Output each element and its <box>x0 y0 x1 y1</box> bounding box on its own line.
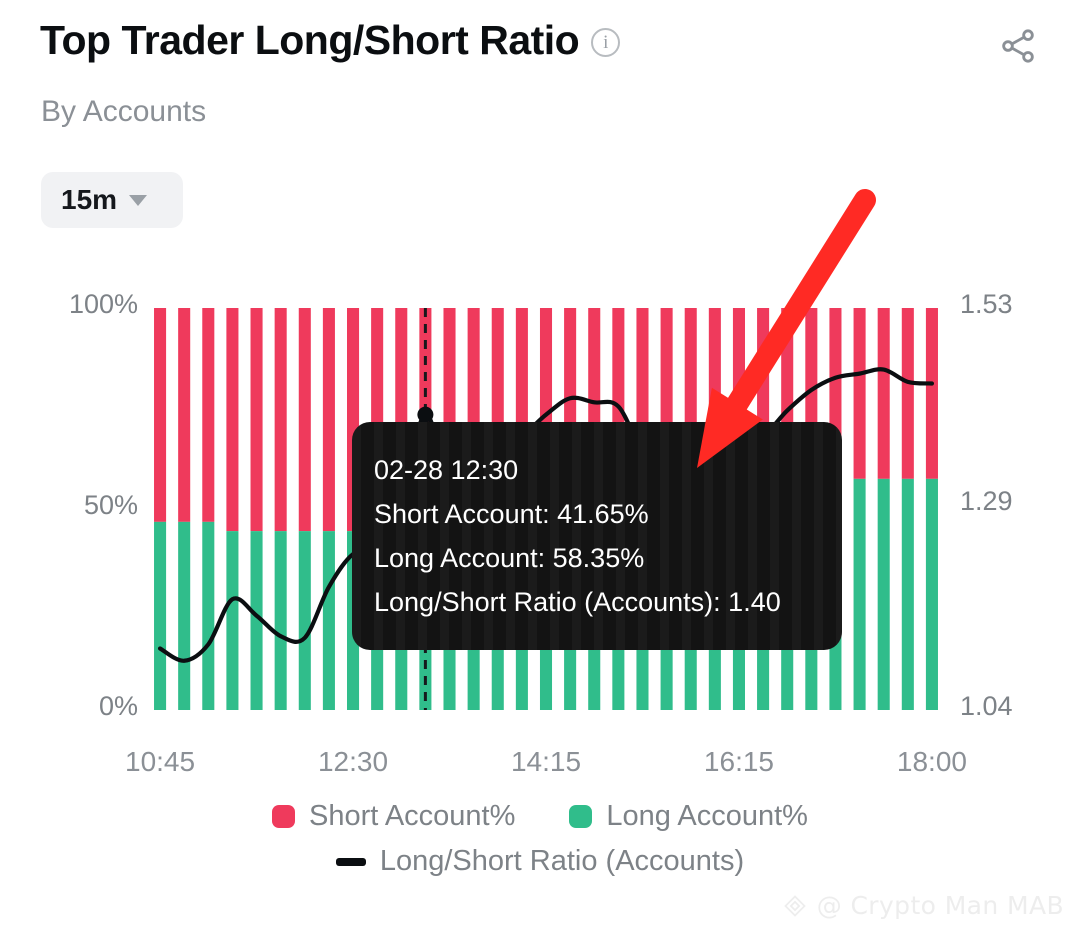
y-axis-right-tick: 1.04 <box>960 691 1013 722</box>
bar-short <box>178 308 190 522</box>
tooltip-ratio: Long/Short Ratio (Accounts): 1.40 <box>374 580 820 624</box>
interval-label: 15m <box>61 184 117 216</box>
chart-subtitle: By Accounts <box>41 95 206 129</box>
bar-short <box>902 308 914 479</box>
chart-tooltip: 02-28 12:30 Short Account: 41.65% Long A… <box>352 422 842 650</box>
bar-long <box>299 531 311 710</box>
bar-long <box>154 522 166 710</box>
share-icon[interactable] <box>994 22 1042 70</box>
y-axis-left-tick: 50% <box>84 490 138 521</box>
header: Top Trader Long/Short Ratio i <box>40 18 620 63</box>
y-axis-left-tick: 0% <box>99 691 138 722</box>
bar-short <box>226 308 238 531</box>
bar-long <box>275 531 287 710</box>
legend-item-long[interactable]: Long Account% <box>569 800 808 833</box>
y-axis-right-tick: 1.53 <box>960 289 1013 320</box>
tooltip-long-account: Long Account: 58.35% <box>374 536 820 580</box>
bar-long <box>878 479 890 710</box>
legend-swatch-ratio <box>336 858 366 866</box>
x-axis-tick: 14:15 <box>511 746 581 778</box>
bar-short <box>854 308 866 479</box>
x-axis-tick: 18:00 <box>897 746 967 778</box>
x-axis-tick: 16:15 <box>704 746 774 778</box>
bar-short <box>323 308 335 531</box>
diamond-logo-icon <box>782 893 808 919</box>
chart-legend: Short Account% Long Account% Long/Short … <box>0 800 1080 878</box>
highlight-dot <box>417 407 433 423</box>
legend-label-long: Long Account% <box>606 800 808 833</box>
bar-long <box>926 479 938 710</box>
bar-long <box>226 531 238 710</box>
bar-short <box>202 308 214 522</box>
bar-long <box>178 522 190 710</box>
x-axis-tick: 12:30 <box>318 746 388 778</box>
info-icon[interactable]: i <box>591 28 620 57</box>
legend-item-ratio[interactable]: Long/Short Ratio (Accounts) <box>336 845 744 878</box>
bar-long <box>902 479 914 710</box>
y-axis-right-tick: 1.29 <box>960 486 1013 517</box>
legend-label-ratio: Long/Short Ratio (Accounts) <box>380 845 744 878</box>
bar-short <box>299 308 311 531</box>
y-axis-left-tick: 100% <box>69 289 138 320</box>
legend-swatch-short <box>272 805 295 828</box>
legend-swatch-long <box>569 805 592 828</box>
watermark: @ Crypto Man MAB <box>782 891 1064 920</box>
x-axis-tick: 10:45 <box>125 746 195 778</box>
interval-selector[interactable]: 15m <box>41 172 183 228</box>
bar-short <box>926 308 938 479</box>
legend-label-short: Short Account% <box>309 800 515 833</box>
bar-short <box>878 308 890 479</box>
bar-short <box>154 308 166 522</box>
tooltip-short-account: Short Account: 41.65% <box>374 492 820 536</box>
chart-card: Top Trader Long/Short Ratio i By Account… <box>0 0 1080 930</box>
watermark-text: @ Crypto Man MAB <box>817 891 1064 920</box>
chevron-down-icon <box>129 195 147 206</box>
bar-long <box>323 531 335 710</box>
bar-long <box>854 479 866 710</box>
bar-long <box>202 522 214 710</box>
page-title: Top Trader Long/Short Ratio <box>40 18 579 63</box>
tooltip-timestamp: 02-28 12:30 <box>374 448 820 492</box>
bar-short <box>251 308 263 531</box>
legend-item-short[interactable]: Short Account% <box>272 800 515 833</box>
bar-short <box>275 308 287 531</box>
